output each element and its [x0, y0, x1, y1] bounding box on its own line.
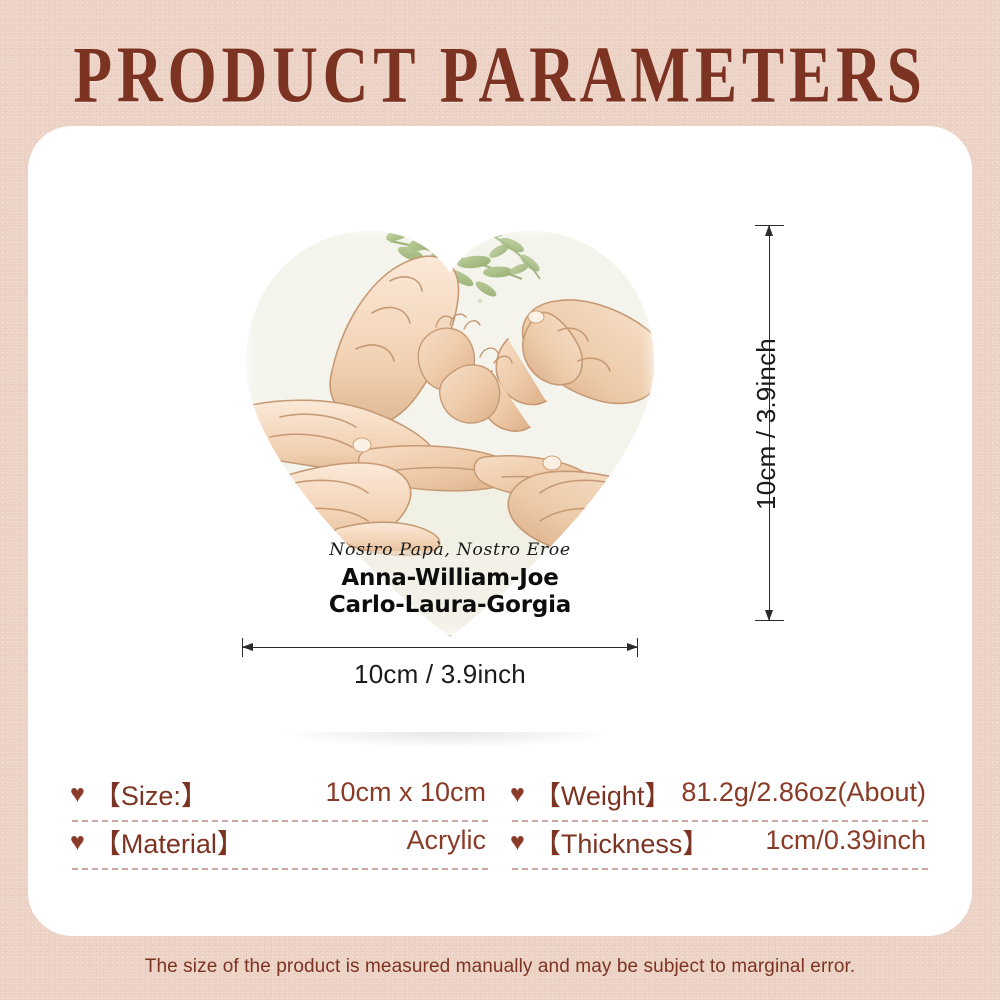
- arrow-right-icon: [627, 643, 638, 651]
- plaque-names-line-2: Carlo-Laura-Gorgia: [240, 592, 660, 619]
- spec-row-material: ♥ 【Material】 Acrylic: [70, 822, 490, 868]
- height-dimension-label: 10cm / 3.9inch: [751, 324, 782, 524]
- spec-value-weight: 81.2g/2.86oz(About): [671, 777, 930, 808]
- spec-divider-material: [72, 868, 488, 870]
- spec-value-size: 10cm x 10cm: [208, 777, 490, 808]
- spec-key-thickness: ♥ 【Thickness】: [510, 822, 709, 861]
- spec-row-weight: ♥ 【Weight】 81.2g/2.86oz(About): [510, 774, 930, 820]
- product-illustration-area: Nostro Papà, Nostro Eroe Anna-William-Jo…: [28, 126, 972, 726]
- spec-cell-material: ♥ 【Material】 Acrylic: [60, 822, 500, 870]
- width-dimension-line: [242, 647, 638, 648]
- spec-value-material: Acrylic: [244, 825, 490, 856]
- plaque-names-line-1: Anna-William-Joe: [240, 565, 660, 592]
- arrow-up-icon: [765, 225, 773, 236]
- page-title: PRODUCT PARAMETERS: [20, 32, 980, 120]
- spec-key-material: ♥ 【Material】: [70, 822, 244, 861]
- spec-key-size: ♥ 【Size:】: [70, 774, 208, 813]
- spec-label-thickness: 【Thickness】: [534, 822, 710, 861]
- heart-icon: ♥: [70, 782, 85, 807]
- page-background: PRODUCT PARAMETERS: [0, 0, 1000, 1000]
- spec-row-size: ♥ 【Size:】 10cm x 10cm: [70, 774, 490, 820]
- arrow-down-icon: [765, 610, 773, 621]
- heart-icon: ♥: [510, 782, 525, 807]
- spec-key-weight: ♥ 【Weight】: [510, 774, 671, 813]
- spec-value-thickness: 1cm/0.39inch: [709, 825, 930, 856]
- heart-icon: ♥: [70, 830, 85, 855]
- arrow-left-icon: [242, 643, 253, 651]
- spec-label-material: 【Material】: [94, 822, 244, 861]
- content-card: Nostro Papà, Nostro Eroe Anna-William-Jo…: [28, 126, 972, 936]
- plaque-base-shadow: [283, 732, 613, 748]
- spec-cell-thickness: ♥ 【Thickness】 1cm/0.39inch: [500, 822, 940, 870]
- footer-disclaimer: The size of the product is measured manu…: [0, 956, 1000, 978]
- spec-row-thickness: ♥ 【Thickness】 1cm/0.39inch: [510, 822, 930, 868]
- spec-divider-thickness: [512, 868, 928, 870]
- spec-cell-size: ♥ 【Size:】 10cm x 10cm: [60, 774, 500, 822]
- heart-icon: ♥: [510, 830, 525, 855]
- plaque-names: Anna-William-Joe Carlo-Laura-Gorgia: [240, 565, 660, 619]
- spec-table: ♥ 【Size:】 10cm x 10cm ♥ 【Weight】 81.2g/2…: [60, 774, 940, 870]
- spec-cell-weight: ♥ 【Weight】 81.2g/2.86oz(About): [500, 774, 940, 822]
- product-plaque: Nostro Papà, Nostro Eroe Anna-William-Jo…: [240, 221, 660, 641]
- plaque-script-line: Nostro Papà, Nostro Eroe: [236, 540, 664, 560]
- spec-label-weight: 【Weight】: [534, 774, 672, 813]
- width-dimension-label: 10cm / 3.9inch: [242, 659, 638, 690]
- spec-label-size: 【Size:】: [94, 774, 208, 813]
- plaque-engraved-text: Nostro Papà, Nostro Eroe Anna-William-Jo…: [240, 540, 660, 619]
